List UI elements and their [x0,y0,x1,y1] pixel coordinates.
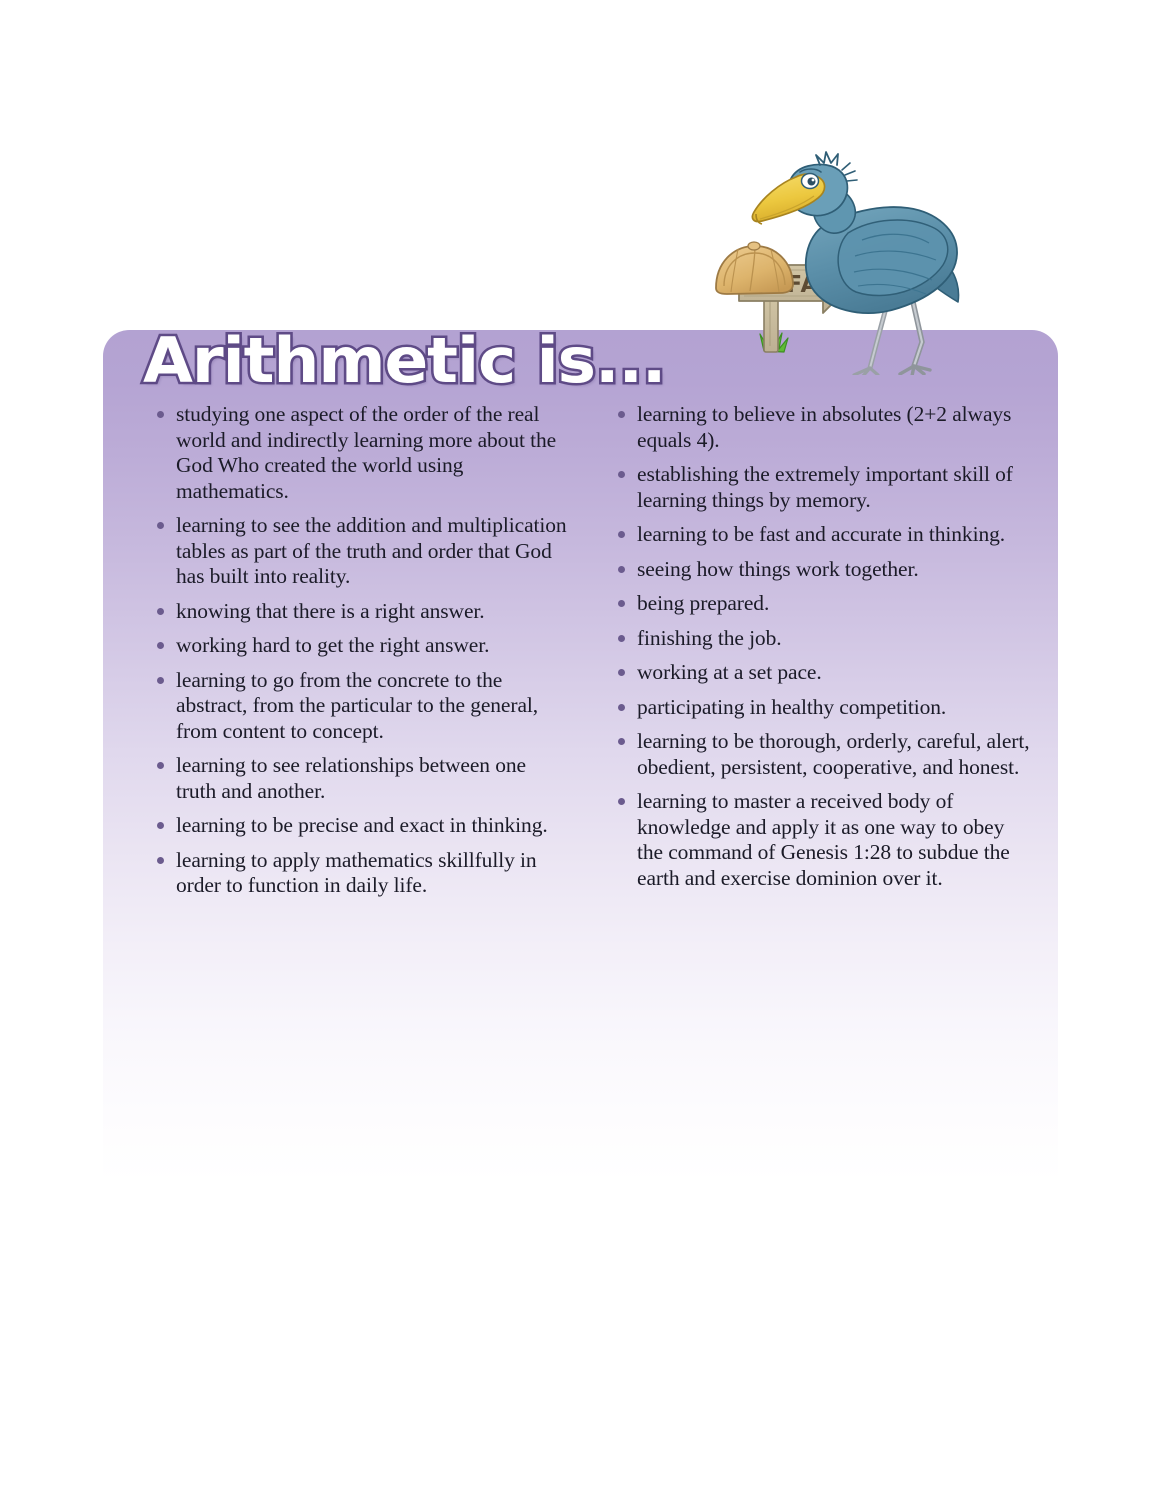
list-item: learning to be precise and exact in thin… [150,813,569,839]
list-item: learning to be thorough, orderly, carefu… [611,729,1030,780]
right-bullet-list: learning to believe in absolutes (2+2 al… [611,402,1030,891]
list-item: learning to be fast and accurate in thin… [611,522,1030,548]
list-item: learning to apply mathematics skillfully… [150,848,569,899]
right-column: learning to believe in absolutes (2+2 al… [611,402,1030,908]
left-bullet-list: studying one aspect of the order of the … [150,402,569,899]
list-item: working hard to get the right answer. [150,633,569,659]
safari-sign: SAFARI [739,253,853,313]
list-item: finishing the job. [611,626,1030,652]
list-item: seeing how things work together. [611,557,1030,583]
two-column-list: studying one aspect of the order of the … [150,402,1030,908]
page-title-wrapper: Arithmetic is... [143,330,645,400]
list-item: studying one aspect of the order of the … [150,402,569,504]
list-item: being prepared. [611,591,1030,617]
sign-label: SAFARI [750,272,848,298]
list-item: learning to believe in absolutes (2+2 al… [611,402,1030,453]
left-column: studying one aspect of the order of the … [150,402,569,908]
list-item: learning to go from the concrete to the … [150,668,569,745]
list-item: participating in healthy competition. [611,695,1030,721]
list-item: learning to master a received body of kn… [611,789,1030,891]
bird-eye [802,174,819,189]
list-item: establishing the extremely important ski… [611,462,1030,513]
list-item: knowing that there is a right answer. [150,599,569,625]
list-item: working at a set pace. [611,660,1030,686]
list-item: learning to see relationships between on… [150,753,569,804]
page-canvas: SAFARI [0,0,1159,1500]
pith-helmet-icon [716,242,793,294]
content-panel: Arithmetic is... studying one aspect of … [103,330,1058,1210]
list-item: learning to see the addition and multipl… [150,513,569,590]
page-title: Arithmetic is... [143,330,665,400]
